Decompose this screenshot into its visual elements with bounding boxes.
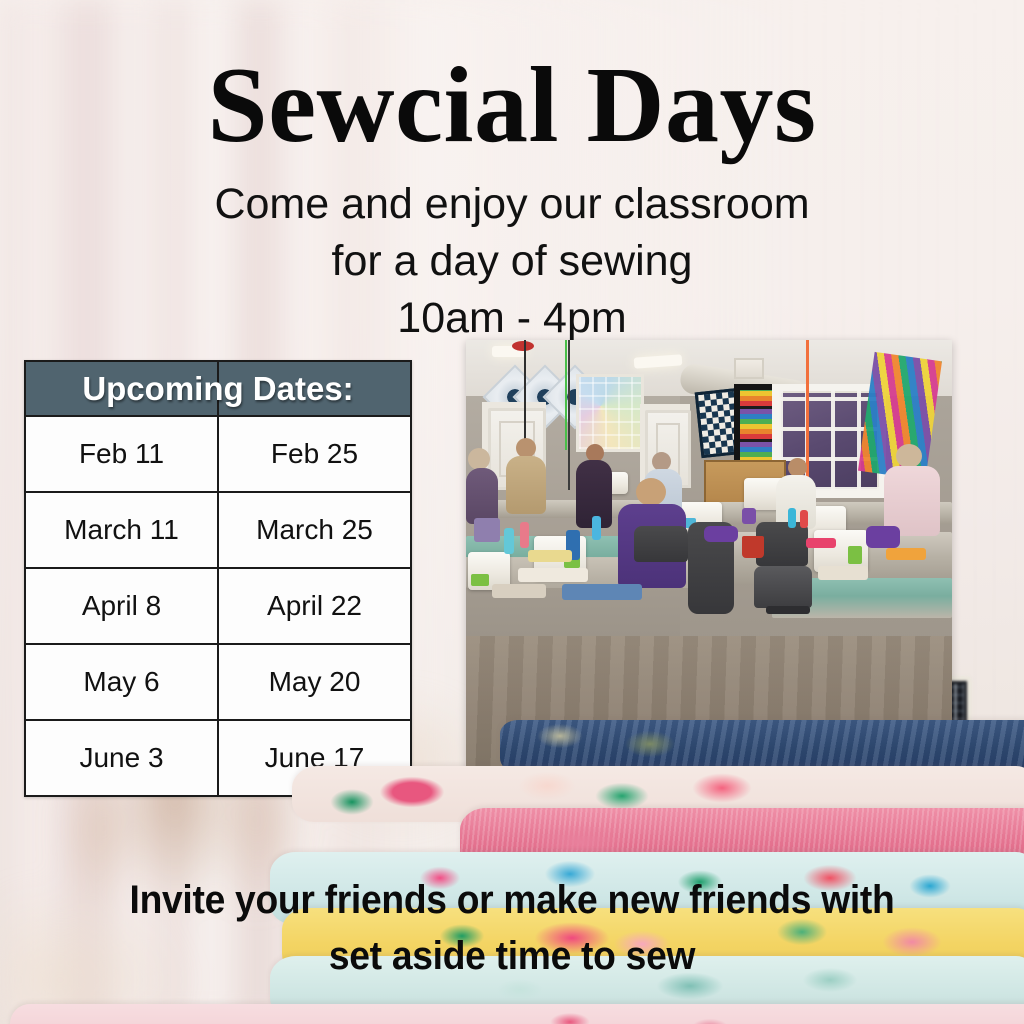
photo-person-left-edge [466,448,500,524]
photo-machine-accent [848,546,862,564]
photo-bag-purple [704,526,738,542]
date-cell: March 11 [25,492,218,568]
date-cell: June 3 [25,720,218,796]
table-row: Feb 11 Feb 25 [25,416,411,492]
classroom-photo [466,340,952,822]
photo-cutting-mat [492,584,546,598]
cta-line-2: set aside time to sew [36,928,988,984]
photo-person-head [516,438,536,458]
photo-fabric-pile [474,518,500,542]
date-cell: Feb 11 [25,416,218,492]
date-cell: Feb 25 [218,416,411,492]
subhead-line-3: 10am - 4pm [0,290,1024,347]
photo-bag-purple-2 [866,526,900,548]
table-row: May 6 May 20 [25,644,411,720]
upcoming-dates-table: Feb 11 Feb 25 March 11 March 25 April 8 … [24,360,412,797]
photo-hanging-cord-1 [568,340,570,490]
dates-table-header-row [25,361,411,416]
poster-headline: Sewcial Days [0,52,1024,160]
date-cell: June 17 [218,720,411,796]
poster-subhead: Come and enjoy our classroom for a day o… [0,176,1024,348]
photo-person-torso [506,456,546,514]
date-cell: May 20 [218,644,411,720]
photo-person-white-shirt [776,458,818,530]
photo-person-right-edge [884,444,942,536]
photo-pastel-wall-quilt [576,374,644,452]
photo-bottle-2 [520,522,529,548]
photo-floor [466,636,952,822]
photo-hanging-cord-green [565,340,567,450]
photo-ruler [818,566,868,580]
photo-person-head [468,448,490,470]
photo-chair-3 [754,566,812,608]
subhead-line-2: for a day of sewing [0,233,1024,290]
table-row: June 3 June 17 [25,720,411,796]
dates-table-body: Feb 11 Feb 25 March 11 March 25 April 8 … [25,416,411,796]
photo-person-head [896,444,922,468]
photo-bottle-4 [788,508,796,528]
date-cell: April 22 [218,568,411,644]
poster-cta: Invite your friends or make new friends … [36,872,988,984]
photo-red-bin [742,536,764,558]
table-row: March 11 March 25 [25,492,411,568]
photo-person-torso [466,468,498,524]
photo-water-bottle-1 [504,528,514,554]
photo-ceiling-vent [734,358,764,379]
photo-person-torso [776,475,816,529]
photo-pouch-purple [742,508,756,524]
table-row: April 8 April 22 [25,568,411,644]
photo-machine-accent [471,574,489,586]
date-cell: April 8 [25,568,218,644]
photo-orange-strip [886,548,926,560]
photo-yellow-strip [528,550,572,562]
fabric-bolt-blush [10,1004,1024,1024]
cta-line-1: Invite your friends or make new friends … [36,872,988,928]
photo-person-standing-left [504,438,548,518]
subhead-line-1: Come and enjoy our classroom [0,176,1024,233]
photo-bottle-5 [800,510,808,528]
photo-pink-strip [806,538,836,548]
photo-ceiling-red-fixture [512,341,534,351]
photo-bottle-3 [592,516,601,540]
dates-table-header-left [25,361,218,416]
date-cell: May 6 [25,644,218,720]
photo-paper-stack [518,568,588,582]
photo-person-head [636,478,666,506]
photo-denim-piece [562,584,642,600]
poster-canvas: PFAFF Sewcial Days Come and enjoy our cl… [0,0,1024,1024]
date-cell: March 25 [218,492,411,568]
dates-table-head [25,361,411,416]
photo-chair-base [766,606,810,614]
photo-chair-1 [634,526,688,562]
dates-table-header-right [218,361,411,416]
